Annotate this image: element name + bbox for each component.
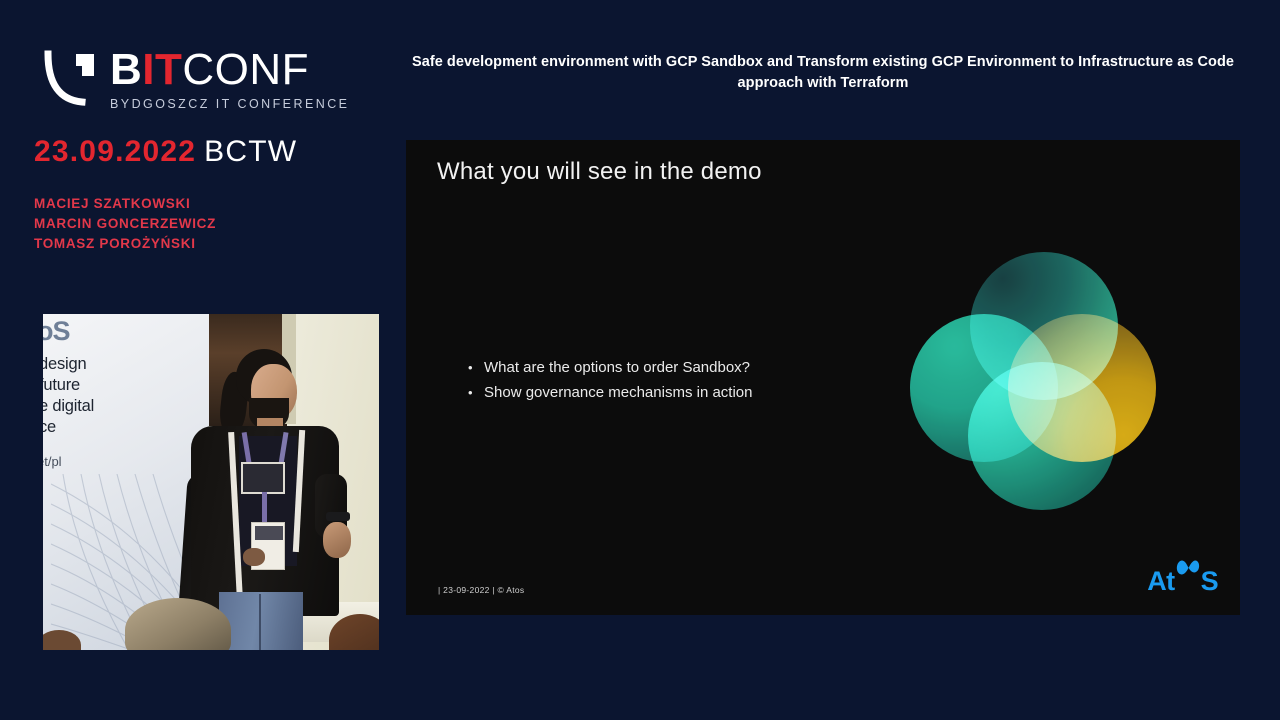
bitconf-logo-lockup: BITCONF BYDGOSZCZ IT CONFERENCE	[38, 48, 349, 111]
list-item: Show governance mechanisms in action	[468, 380, 888, 405]
speaker-names-list: MACIEJ SZATKOWSKI MARCIN GONCERZEWICZ TO…	[34, 194, 216, 254]
list-item: What are the options to order Sandbox?	[468, 355, 888, 380]
bitconf-wordmark-block: BITCONF BYDGOSZCZ IT CONFERENCE	[110, 48, 349, 111]
event-venue: BCTW	[204, 135, 297, 168]
talk-title: Safe development environment with GCP Sa…	[406, 52, 1240, 94]
event-date-venue: 23.09.2022BCTW	[34, 135, 297, 169]
event-date: 23.09.2022	[34, 135, 196, 168]
slide-footer-text: | 23-09-2022 | © Atos	[438, 585, 524, 595]
left-info-panel: BITCONF BYDGOSZCZ IT CONFERENCE 23.09.20…	[0, 0, 400, 720]
atos-logo: AtS	[1147, 566, 1218, 597]
speaker-video-thumbnail[interactable]: oS design future e digital ce et/pl	[43, 314, 379, 650]
speaker-right-hand	[323, 522, 351, 558]
wordmark-it: IT	[142, 45, 182, 94]
slide-bullet-list: What are the options to order Sandbox? S…	[468, 355, 888, 405]
badge-photo-area	[255, 526, 283, 540]
speaker-wristwatch	[326, 512, 350, 521]
four-overlapping-circles-graphic	[910, 252, 1158, 512]
slide-title: What you will see in the demo	[437, 158, 762, 186]
speaker-badge-upper	[241, 462, 285, 494]
presentation-slide[interactable]: What you will see in the demo What are t…	[406, 140, 1240, 615]
wordmark-b: B	[110, 45, 142, 94]
bitconf-smiley-mark-icon	[38, 50, 98, 108]
presentation-recording-frame: BITCONF BYDGOSZCZ IT CONFERENCE 23.09.20…	[0, 0, 1280, 720]
banner-slogan-text: design future e digital ce	[43, 354, 94, 438]
speaker-jeans-seam	[259, 594, 261, 650]
video-frame-content: oS design future e digital ce et/pl	[43, 314, 379, 650]
bitconf-subtitle: BYDGOSZCZ IT CONFERENCE	[110, 97, 349, 111]
speaker-jeans	[219, 592, 303, 650]
banner-url-text: et/pl	[43, 454, 62, 469]
bitconf-wordmark: BITCONF	[110, 48, 349, 92]
atos-logo-infinity-o-icon	[1175, 570, 1201, 590]
banner-partial-logo: oS	[43, 316, 70, 347]
atos-logo-at: At	[1147, 566, 1174, 597]
atos-logo-s: S	[1201, 566, 1218, 597]
wordmark-conf: CONF	[182, 45, 309, 94]
speaker-left-hand	[243, 548, 265, 566]
circle-bottom	[968, 362, 1116, 510]
